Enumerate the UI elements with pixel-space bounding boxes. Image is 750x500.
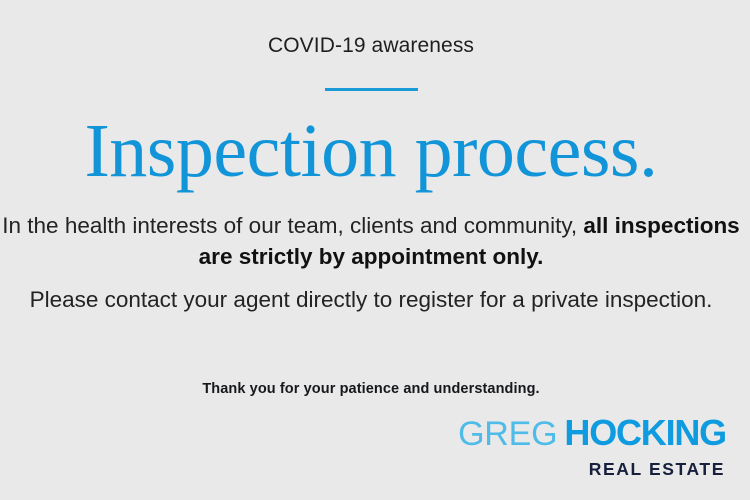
brand-logo-tagline: REAL ESTATE — [458, 461, 725, 479]
body-copy: In the health interests of our team, cli… — [0, 210, 742, 315]
brand-logo-wordmark: GREGHOCKING — [458, 416, 726, 458]
page-title: Inspection process. — [0, 108, 742, 194]
eyebrow-label: COVID-19 awareness — [0, 32, 742, 60]
covid-awareness-poster: COVID-19 awareness Inspection process. I… — [0, 0, 750, 500]
brand-logo: GREGHOCKING REAL ESTATE — [458, 416, 726, 479]
divider-rule — [325, 88, 418, 91]
brand-logo-word-hocking: HOCKING — [564, 412, 726, 453]
thank-you-note: Thank you for your patience and understa… — [0, 379, 742, 399]
paragraph-primary: In the health interests of our team, cli… — [0, 210, 742, 272]
divider-rule-container — [0, 88, 742, 91]
paragraph-secondary: Please contact your agent directly to re… — [0, 284, 742, 315]
paragraph-primary-lead: In the health interests of our team, cli… — [2, 213, 583, 238]
brand-logo-word-greg: GREG — [458, 415, 557, 453]
